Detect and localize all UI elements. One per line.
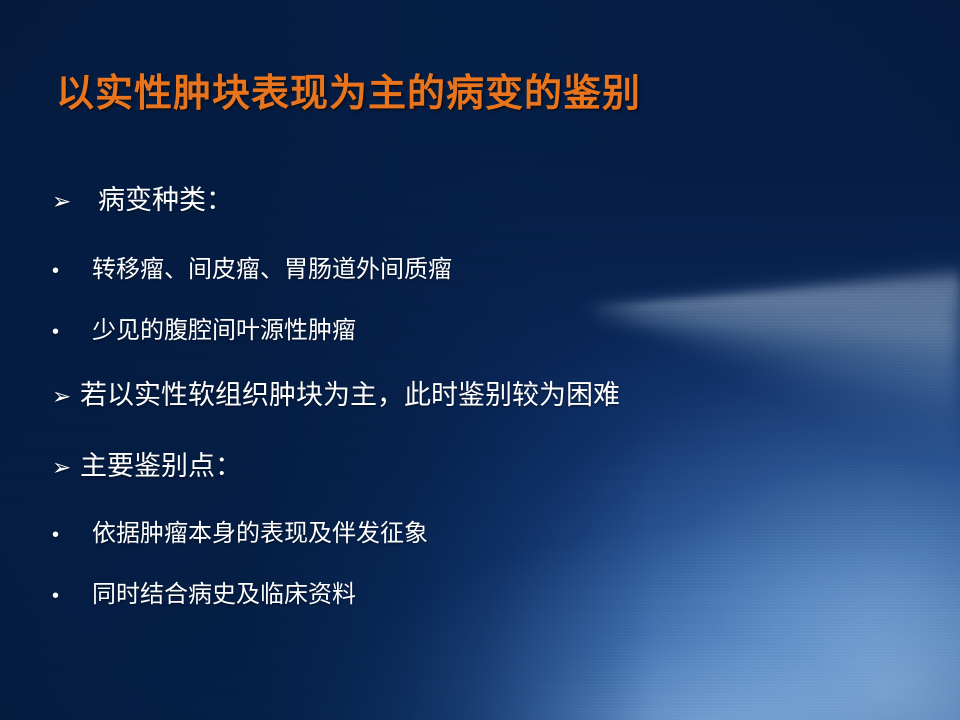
arrow-bullet-icon: ➢ xyxy=(52,385,80,408)
arrow-bullet-icon: ➢ xyxy=(52,190,98,213)
arrow-bullet-icon: ➢ xyxy=(52,456,80,479)
bullet-text: 依据肿瘤本身的表现及伴发征象 xyxy=(92,513,428,548)
slide-content: 以实性肿块表现为主的病变的鉴别 ➢ 病变种类： • 转移瘤、间皮瘤、胃肠道外间质… xyxy=(0,0,960,720)
bullet-line: • 同时结合病史及临床资料 xyxy=(0,574,960,609)
bullet-line: ➢ 若以实性软组织肿块为主，此时鉴别较为困难 xyxy=(0,373,960,412)
bullet-text: 主要鉴别点： xyxy=(80,444,242,483)
bullet-line: • 少见的腹腔间叶源性肿瘤 xyxy=(0,310,960,345)
bullet-text: 少见的腹腔间叶源性肿瘤 xyxy=(92,310,356,345)
dot-bullet-icon: • xyxy=(52,261,92,281)
dot-bullet-icon: • xyxy=(52,525,92,545)
bullet-text: 同时结合病史及临床资料 xyxy=(92,574,356,609)
dot-bullet-icon: • xyxy=(52,586,92,606)
bullet-line: • 转移瘤、间皮瘤、胃肠道外间质瘤 xyxy=(0,249,960,284)
slide-canvas: 以实性肿块表现为主的病变的鉴别 ➢ 病变种类： • 转移瘤、间皮瘤、胃肠道外间质… xyxy=(0,0,960,720)
bullet-line: ➢ 病变种类： xyxy=(0,178,960,217)
slide-body-list: ➢ 病变种类： • 转移瘤、间皮瘤、胃肠道外间质瘤 • 少见的腹腔间叶源性肿瘤 … xyxy=(0,178,960,609)
dot-bullet-icon: • xyxy=(52,322,92,342)
bullet-line: ➢ 主要鉴别点： xyxy=(0,444,960,483)
bullet-text: 转移瘤、间皮瘤、胃肠道外间质瘤 xyxy=(92,249,452,284)
bullet-text: 病变种类： xyxy=(98,178,233,217)
bullet-text: 若以实性软组织肿块为主，此时鉴别较为困难 xyxy=(80,373,620,412)
bullet-line: • 依据肿瘤本身的表现及伴发征象 xyxy=(0,513,960,548)
slide-title: 以实性肿块表现为主的病变的鉴别 xyxy=(56,62,641,117)
